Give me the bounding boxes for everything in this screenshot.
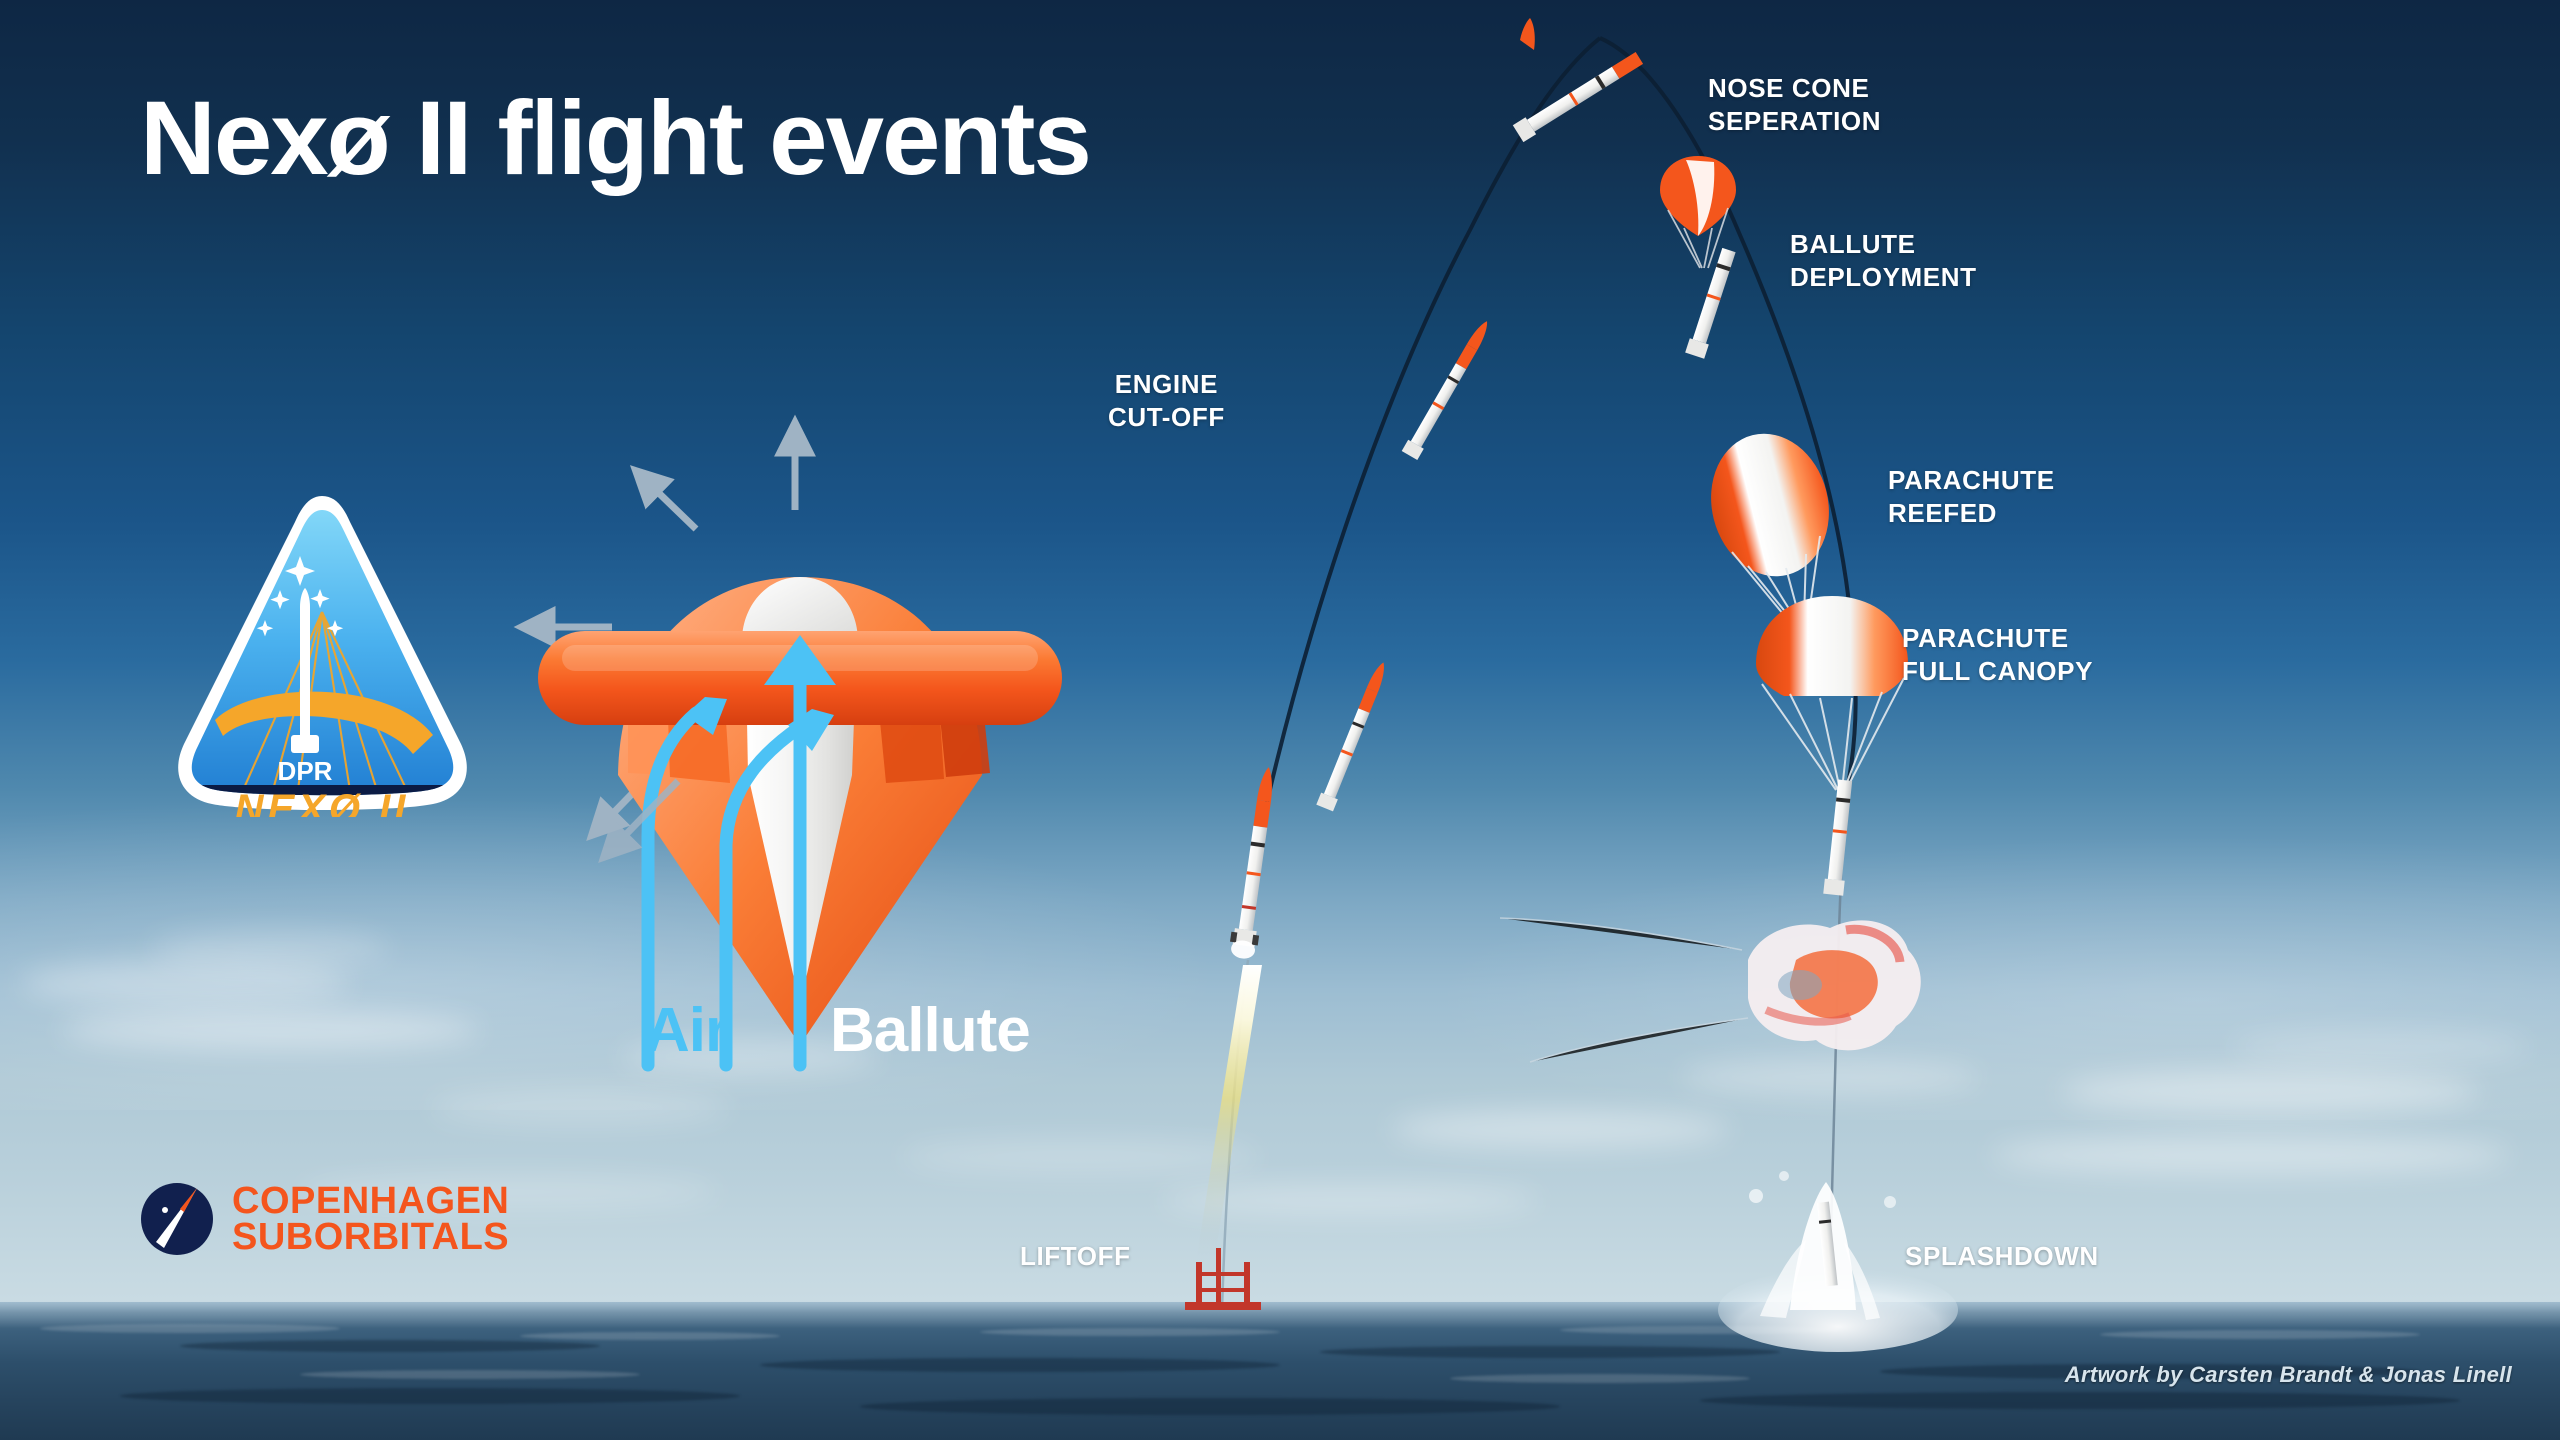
rocket-ascending bbox=[1196, 765, 1283, 1262]
label-parachute-full-canopy-line2: FULL CANOPY bbox=[1902, 655, 2093, 688]
rocket-coasting bbox=[1402, 317, 1495, 460]
label-liftoff-line1: LIFTOFF bbox=[1020, 1240, 1131, 1273]
flight-trajectory-illustration bbox=[0, 0, 2560, 1440]
parachute-reefed-graphic bbox=[1696, 421, 1843, 620]
label-ballute-deployment-line2: DEPLOYMENT bbox=[1790, 261, 1977, 294]
label-engine-cut-off-line1: ENGINE bbox=[1108, 368, 1225, 401]
label-parachute-reefed: PARACHUTE REEFED bbox=[1888, 464, 2055, 529]
label-engine-cut-off-line2: CUT-OFF bbox=[1108, 401, 1225, 434]
rocket-engine-cutoff bbox=[1316, 659, 1392, 811]
label-splashdown-line1: SPLASHDOWN bbox=[1905, 1240, 2099, 1273]
rocket-under-canopy bbox=[1823, 779, 1855, 895]
label-parachute-reefed-line1: PARACHUTE bbox=[1888, 464, 2055, 497]
ascent-arc bbox=[1252, 38, 1600, 870]
infographic-canvas: Nexø II flight events bbox=[0, 0, 2560, 1440]
label-nose-cone-separation-line2: SEPERATION bbox=[1708, 105, 1881, 138]
label-ballute-deployment-line1: BALLUTE bbox=[1790, 228, 1977, 261]
label-liftoff: LIFTOFF bbox=[1020, 1240, 1131, 1273]
collapsed-parachute bbox=[1500, 918, 1921, 1062]
label-nose-cone-separation-line1: NOSE CONE bbox=[1708, 72, 1881, 105]
label-splashdown: SPLASHDOWN bbox=[1905, 1240, 2099, 1273]
artwork-credit: Artwork by Carsten Brandt & Jonas Linell bbox=[2065, 1362, 2512, 1388]
label-nose-cone-separation: NOSE CONE SEPERATION bbox=[1708, 72, 1881, 137]
label-parachute-reefed-line2: REEFED bbox=[1888, 497, 2055, 530]
label-parachute-full-canopy: PARACHUTE FULL CANOPY bbox=[1902, 622, 2093, 687]
label-engine-cut-off: ENGINE CUT-OFF bbox=[1108, 368, 1225, 433]
rocket-apex bbox=[1513, 49, 1645, 142]
parachute-full-canopy-graphic bbox=[1756, 596, 1908, 790]
label-ballute-deployment: BALLUTE DEPLOYMENT bbox=[1790, 228, 1977, 293]
label-parachute-full-canopy-line1: PARACHUTE bbox=[1902, 622, 2093, 655]
nose-cone-jettisoned bbox=[1520, 18, 1535, 50]
rocket-with-ballute bbox=[1685, 247, 1738, 359]
